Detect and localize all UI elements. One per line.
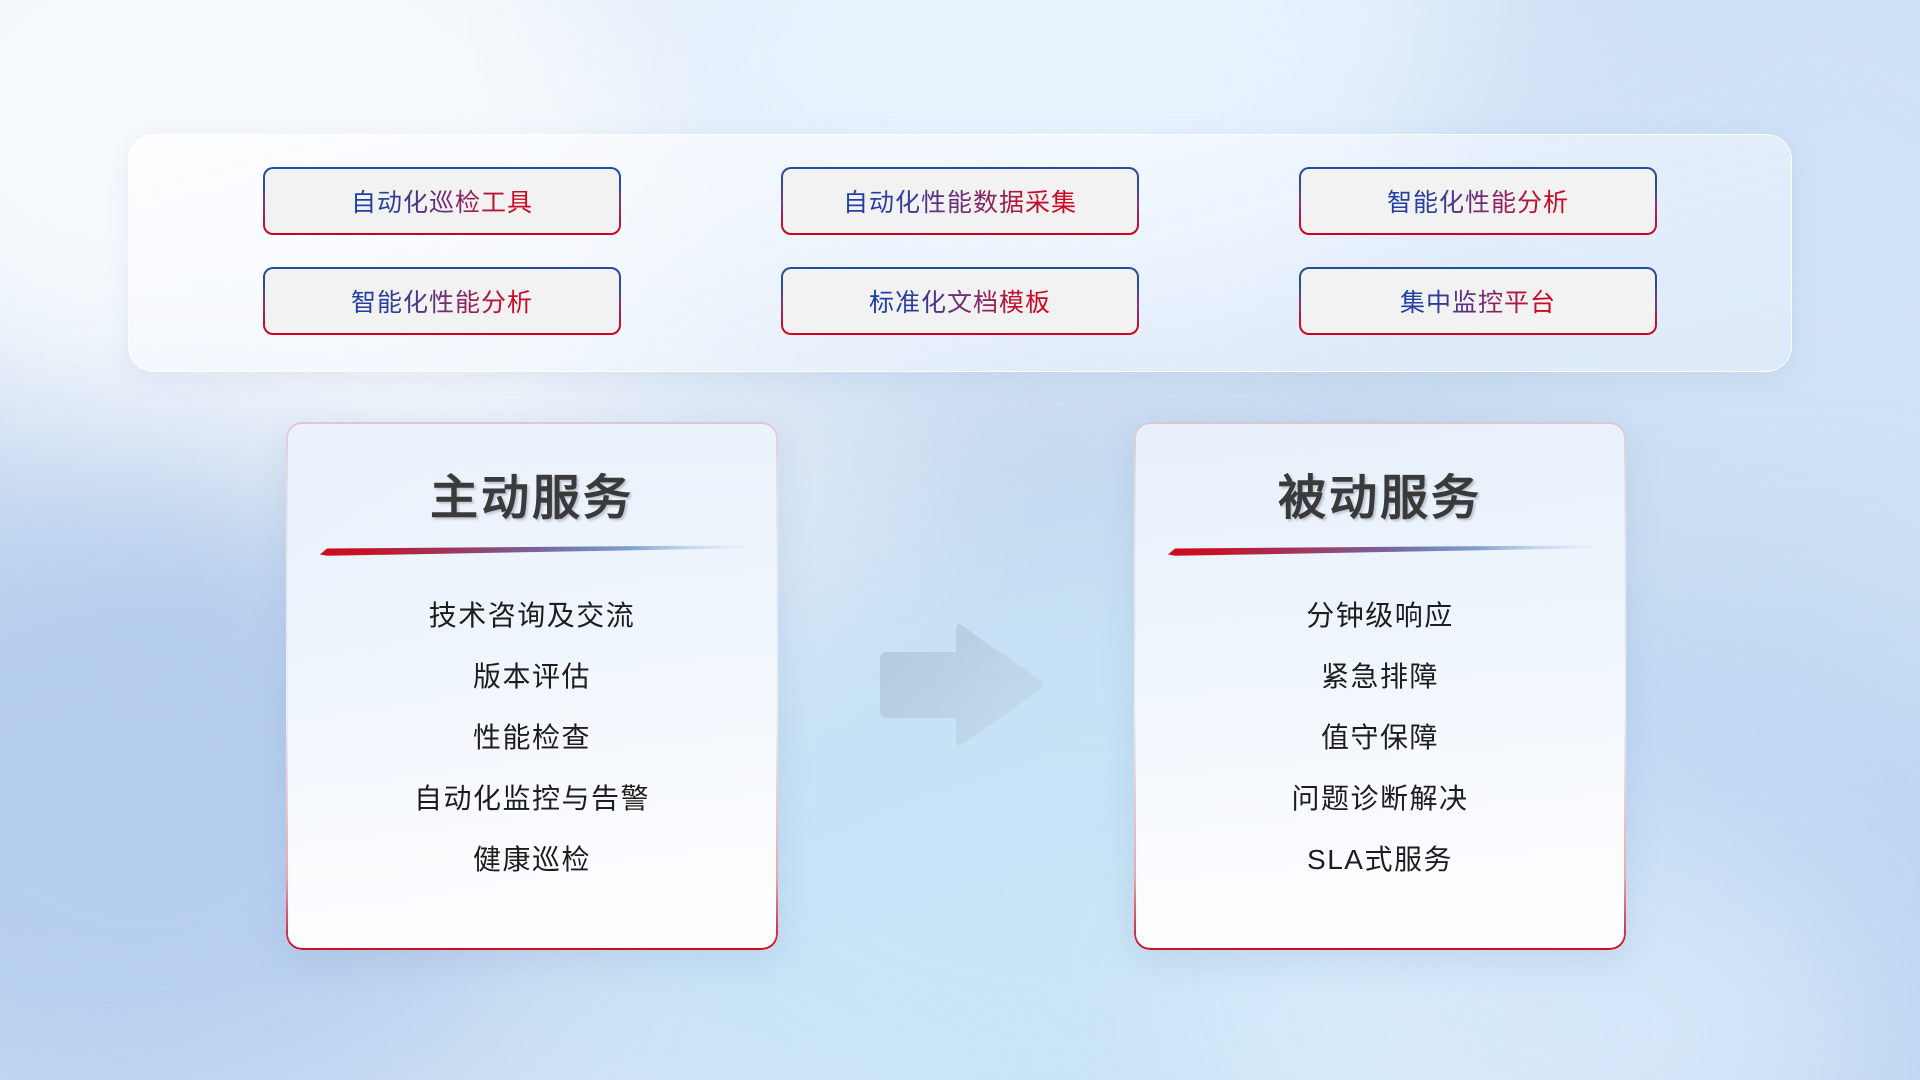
diagram-canvas: 自动化巡检工具 自动化性能数据采集 智能化性能分析 智能化性能分析 标准化文档模… [0,0,1920,1080]
capability-tag[interactable]: 标准化文档模板 [781,267,1139,335]
capability-tag-label: 标准化文档模板 [869,283,1051,319]
card-divider [320,544,760,556]
service-item: 问题诊断解决 [1291,777,1468,817]
capability-tag-label: 自动化性能数据采集 [843,183,1077,219]
card-title: 被动服务 [1134,458,1626,528]
service-item: 紧急排障 [1321,655,1439,695]
card-divider [1168,544,1608,556]
service-item: SLA式服务 [1307,838,1453,878]
service-item: 值守保障 [1321,716,1439,756]
service-card-reactive: 被动服务 分钟级响应 紧急排障 值守保障 问题诊断解决 SLA式服务 [1134,422,1626,950]
capability-tag[interactable]: 智能化性能分析 [263,267,621,335]
capability-tag[interactable]: 智能化性能分析 [1299,167,1657,235]
capability-tag-label: 集中监控平台 [1400,283,1556,319]
service-card-proactive: 主动服务 技术咨询及交流 版本评估 性能检查 自动化监控与告警 健康巡检 [286,422,778,950]
service-item: 技术咨询及交流 [429,594,636,634]
capability-tag[interactable]: 自动化性能数据采集 [781,167,1139,235]
capability-tag-label: 智能化性能分析 [351,283,533,319]
service-item: 健康巡检 [473,838,591,878]
service-item: 分钟级响应 [1306,594,1454,634]
capability-tag-grid: 自动化巡检工具 自动化性能数据采集 智能化性能分析 智能化性能分析 标准化文档模… [129,135,1791,371]
service-item: 自动化监控与告警 [414,777,650,817]
capability-tag[interactable]: 集中监控平台 [1299,267,1657,335]
service-item-list: 分钟级响应 紧急排障 值守保障 问题诊断解决 SLA式服务 [1134,580,1626,878]
service-item: 版本评估 [473,655,591,695]
capability-tag-label: 智能化性能分析 [1387,183,1569,219]
capability-tag-label: 自动化巡检工具 [351,183,533,219]
service-item-list: 技术咨询及交流 版本评估 性能检查 自动化监控与告警 健康巡检 [286,580,778,878]
capability-panel: 自动化巡检工具 自动化性能数据采集 智能化性能分析 智能化性能分析 标准化文档模… [128,134,1792,372]
capability-tag[interactable]: 自动化巡检工具 [263,167,621,235]
right-arrow-icon [872,620,1048,746]
card-title: 主动服务 [286,458,778,528]
service-item: 性能检查 [473,716,591,756]
